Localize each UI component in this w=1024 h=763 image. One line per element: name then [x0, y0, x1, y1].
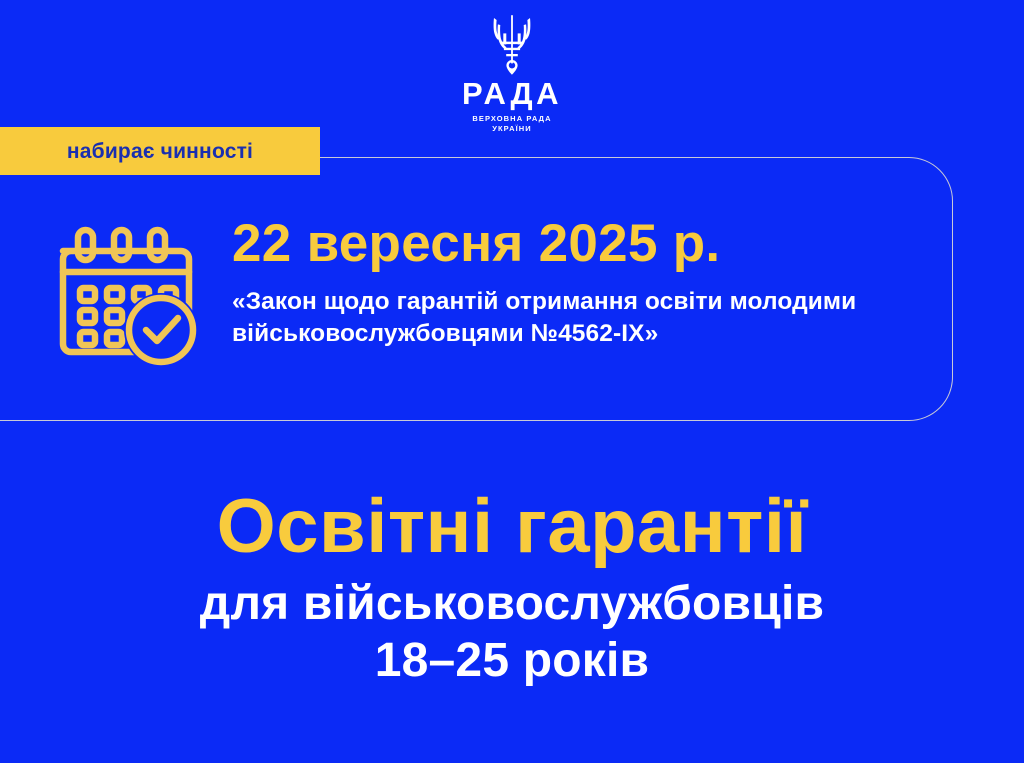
law-info-row: 22 вересня 2025 р. «Закон щодо гарантій … [52, 212, 932, 370]
logo-wordmark: РАДА [462, 78, 562, 109]
headline-subtitle-line-1: для військовослужбовців [0, 576, 1024, 632]
headline-subtitle-line-2: 18–25 років [0, 633, 1024, 689]
status-badge: набирає чинності [0, 127, 320, 175]
headline-block: Освітні гарантії для військовослужбовців… [0, 488, 1024, 689]
page-title: Освітні гарантії [0, 488, 1024, 566]
rada-logo: РАДА ВЕРХОВНА РАДА УКРАЇНИ [0, 14, 1024, 134]
law-title: «Закон щодо гарантій отримання освіти мо… [232, 286, 892, 351]
poster-canvas: РАДА ВЕРХОВНА РАДА УКРАЇНИ набирає чинно… [0, 0, 1024, 763]
status-badge-label: набирає чинності [67, 141, 253, 162]
logo-subtitle: ВЕРХОВНА РАДА УКРАЇНИ [472, 114, 551, 134]
law-text-group: 22 вересня 2025 р. «Закон щодо гарантій … [232, 212, 932, 351]
ukrainian-trident-icon [489, 14, 535, 76]
law-effective-date: 22 вересня 2025 р. [232, 216, 932, 272]
calendar-check-icon [52, 212, 204, 370]
